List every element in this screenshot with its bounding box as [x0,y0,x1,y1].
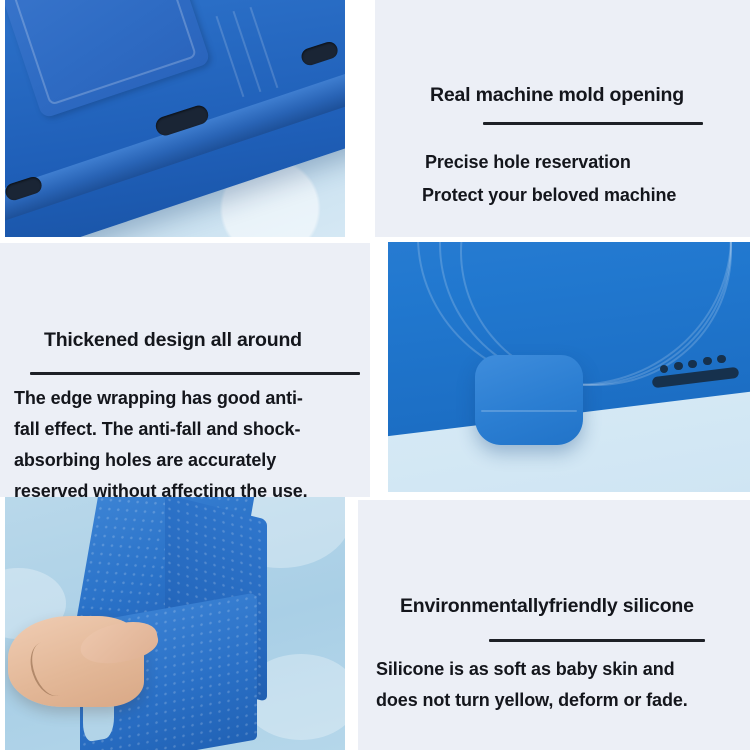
callout-body-line: reserved without affecting the use. [14,481,308,497]
callout-body-line: absorbing holes are accurately [14,450,276,471]
callout-environmentally-friendly-silicone: Environmentallyfriendly silicone Silicon… [358,500,750,750]
callout-body-line: Protect your beloved machine [422,185,676,206]
callout-divider [30,372,360,375]
photo-thick-corner-bumper [388,242,750,492]
callout-body-line: fall effect. The anti-fall and shock- [14,419,300,440]
callout-body-line: does not turn yellow, deform or fade. [376,690,688,711]
callout-thickened-design-all-around: Thickened design all around The edge wra… [0,243,370,497]
callout-headline: Environmentallyfriendly silicone [400,595,694,618]
grille-hole [674,362,683,370]
callout-body-line: Precise hole reservation [425,152,631,173]
grille-hole [717,355,726,363]
photo-hand-flexing-case [5,497,345,750]
grille-hole [688,360,697,368]
callout-body-line: The edge wrapping has good anti- [14,388,303,409]
grille-hole [660,365,669,373]
product-feature-collage: Real machine mold opening Precise hole r… [0,0,750,750]
callout-real-machine-mold-opening: Real machine mold opening Precise hole r… [375,0,750,237]
callout-divider [489,639,705,642]
callout-body-line: Silicone is as soft as baby skin and [376,659,675,680]
photo-case-back-kickstand [5,0,345,237]
thick-corner-bumper [475,355,584,445]
callout-headline: Real machine mold opening [430,84,684,107]
grille-hole [703,357,712,365]
bumper-seam [481,410,577,412]
callout-divider [483,122,703,125]
callout-headline: Thickened design all around [44,329,302,352]
